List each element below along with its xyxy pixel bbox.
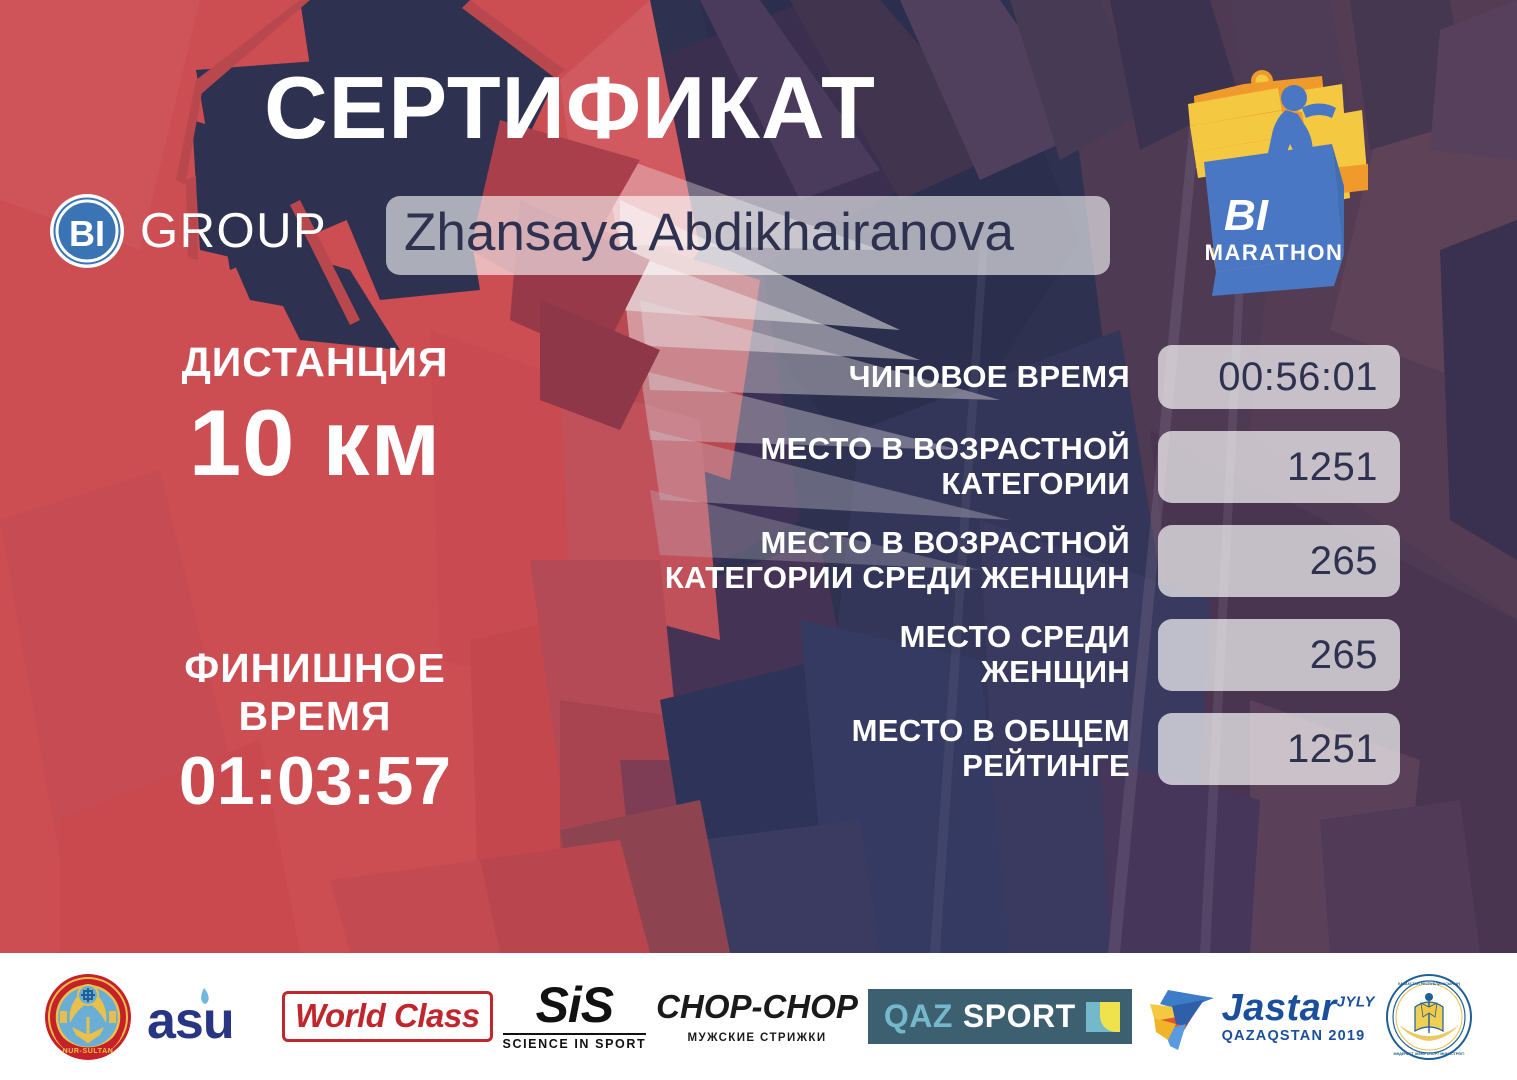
qazsport-badge-icon (1086, 1002, 1120, 1032)
bi-marathon-badge-icon: BI MARATHON (1182, 58, 1402, 308)
results-list: ЧИПОВОЕ ВРЕМЯ 00:56:01 МЕСТО В ВОЗРАСТНО… (520, 345, 1400, 785)
qazsport-label-a: QAZ (884, 998, 953, 1035)
asu-logo-icon: asu (142, 982, 272, 1052)
distance-label: ДИСТАНЦИЯ (60, 340, 570, 386)
result-row-age-category-place: МЕСТО В ВОЗРАСТНОЙ КАТЕГОРИИ 1251 (520, 431, 1400, 503)
sponsor-jastar-jyly: JastarJYLY QAZAQSTAN 2019 (1142, 969, 1375, 1065)
result-label: МЕСТО СРЕДИ ЖЕНЩИН (520, 620, 1158, 689)
distance-value: 10 км (60, 392, 570, 494)
certificate-card: СЕРТИФИКАТ BI GROUP Zhansaya Abdikhairan… (0, 0, 1517, 1080)
sponsor-world-class: World Class (282, 969, 493, 1065)
sponsor-qazsport: QAZSPORT (868, 969, 1132, 1065)
bi-marathon-logo: BI MARATHON (1182, 58, 1402, 308)
page-title: СЕРТИФИКАТ (0, 62, 1140, 154)
result-row-age-category-women-place: МЕСТО В ВОЗРАСТНОЙ КАТЕГОРИИ СРЕДИ ЖЕНЩИ… (520, 525, 1400, 597)
result-value: 265 (1158, 525, 1400, 597)
chop-chop-tagline: МУЖСКИЕ СТРИЖКИ (656, 1032, 858, 1044)
nur-sultan-label: NUR-SULTAN (63, 1048, 114, 1055)
result-label: МЕСТО В ВОЗРАСТНОЙ КАТЕГОРИИ (520, 432, 1158, 501)
bi-marathon-subtitle: MARATHON (1205, 240, 1344, 265)
result-row-overall-place: МЕСТО В ОБЩЕМ РЕЙТИНГЕ 1251 (520, 713, 1400, 785)
result-row-women-place: МЕСТО СРЕДИ ЖЕНЩИН 265 (520, 619, 1400, 691)
jastar-bird-icon (1142, 980, 1216, 1054)
world-class-wordmark: World Class (282, 991, 493, 1042)
svg-text:ҚАЗАҚСТАН РЕСПУБЛИКАСЫНЫҢ: ҚАЗАҚСТАН РЕСПУБЛИКАСЫНЫҢ (1398, 982, 1460, 986)
qazsport-wordmark: QAZSPORT (868, 989, 1132, 1044)
sponsor-chop-chop: CHOP-CHOP МУЖСКИЕ СТРИЖКИ (656, 969, 858, 1065)
certificate-content: СЕРТИФИКАТ BI GROUP Zhansaya Abdikhairan… (0, 0, 1517, 953)
distance-block: ДИСТАНЦИЯ 10 км (60, 340, 570, 493)
ministry-seal-icon: ҚАЗАҚСТАН РЕСПУБЛИКАСЫНЫҢ МӘДЕНИЕТ ЖӘНЕ … (1385, 973, 1473, 1061)
sponsor-asu: asu (142, 969, 272, 1065)
nur-sultan-emblem-icon: NUR-SULTAN (44, 973, 132, 1061)
qazsport-label-b: SPORT (963, 998, 1076, 1035)
svg-text:МӘДЕНИЕТ ЖӘНЕ СПОРТ МИНИСТРЛІГ: МӘДЕНИЕТ ЖӘНЕ СПОРТ МИНИСТРЛІГІ (1393, 1052, 1464, 1056)
athlete-name: Zhansaya Abdikhairanova (386, 196, 1110, 275)
jastar-wordmark: JastarJYLY (1222, 989, 1375, 1027)
result-value: 00:56:01 (1158, 345, 1400, 409)
result-label: МЕСТО В ВОЗРАСТНОЙ КАТЕГОРИИ СРЕДИ ЖЕНЩИ… (520, 526, 1158, 595)
sponsor-nur-sultan-emblem: NUR-SULTAN (44, 969, 132, 1065)
sis-wordmark: SiS (503, 982, 647, 1030)
result-row-chip-time: ЧИПОВОЕ ВРЕМЯ 00:56:01 (520, 345, 1400, 409)
result-value: 1251 (1158, 431, 1400, 503)
finish-time-label: ФИНИШНОЕ ВРЕМЯ (60, 645, 570, 740)
bi-group-logo: BI GROUP (48, 192, 327, 270)
result-label: МЕСТО В ОБЩЕМ РЕЙТИНГЕ (520, 714, 1158, 783)
bi-marathon-title: BI (1224, 191, 1269, 240)
sponsor-ministry-seal: ҚАЗАҚСТАН РЕСПУБЛИКАСЫНЫҢ МӘДЕНИЕТ ЖӘНЕ … (1385, 969, 1473, 1065)
sponsor-bar: NUR-SULTAN asu World Class SiS SCIENCE I… (0, 953, 1517, 1080)
bi-group-wordmark: GROUP (140, 207, 327, 256)
result-value: 1251 (1158, 713, 1400, 785)
bi-circle-icon: BI (48, 192, 126, 270)
sponsor-science-in-sport: SiS SCIENCE IN SPORT (503, 969, 647, 1065)
svg-text:BI: BI (69, 213, 105, 254)
jastar-tagline: QAZAQSTAN 2019 (1222, 1029, 1375, 1044)
sis-tagline: SCIENCE IN SPORT (503, 1033, 647, 1051)
result-value: 265 (1158, 619, 1400, 691)
result-label: ЧИПОВОЕ ВРЕМЯ (520, 360, 1158, 395)
jastar-jyly-label: JYLY (1337, 994, 1375, 1011)
svg-text:asu: asu (147, 992, 234, 1050)
finish-time-block: ФИНИШНОЕ ВРЕМЯ 01:03:57 (60, 645, 570, 819)
chop-chop-wordmark: CHOP-CHOP (656, 990, 858, 1023)
finish-time-value: 01:03:57 (60, 744, 570, 819)
